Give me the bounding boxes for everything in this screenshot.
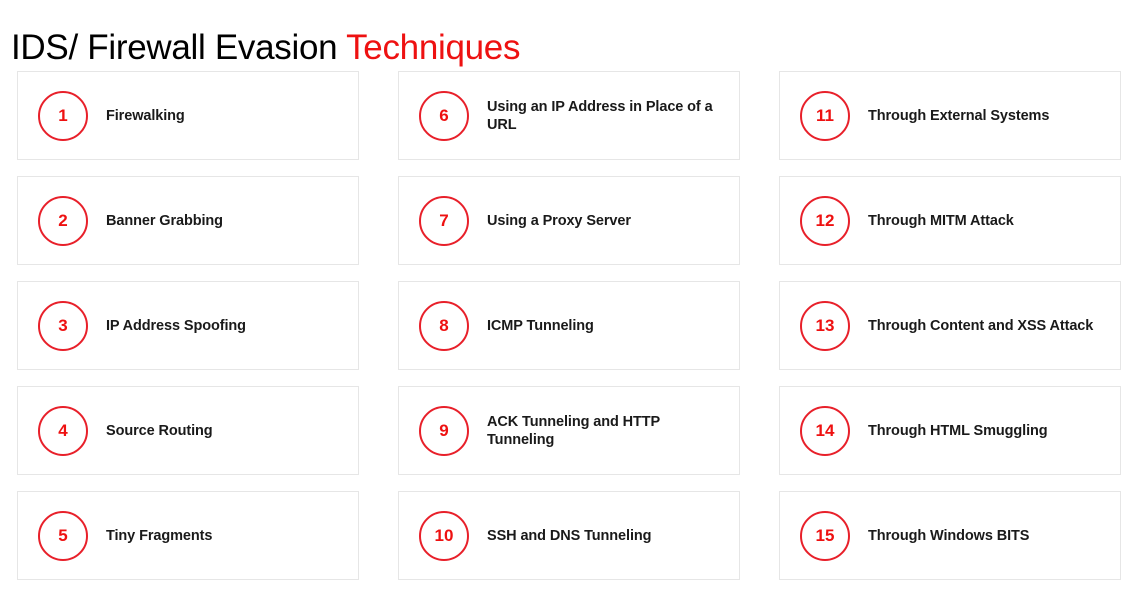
technique-number-badge: 7 bbox=[419, 196, 469, 246]
technique-card[interactable]: 11 Through External Systems bbox=[779, 71, 1121, 160]
technique-label: Using an IP Address in Place of a URL bbox=[487, 98, 729, 134]
technique-number-badge: 6 bbox=[419, 91, 469, 141]
technique-card[interactable]: 12 Through MITM Attack bbox=[779, 176, 1121, 265]
technique-card[interactable]: 10 SSH and DNS Tunneling bbox=[398, 491, 740, 580]
technique-number-badge: 5 bbox=[38, 511, 88, 561]
technique-number-badge: 12 bbox=[800, 196, 850, 246]
technique-number-badge: 1 bbox=[38, 91, 88, 141]
technique-number-badge: 2 bbox=[38, 196, 88, 246]
technique-number-badge: 11 bbox=[800, 91, 850, 141]
technique-label: Through HTML Smuggling bbox=[868, 422, 1048, 440]
technique-number-badge: 15 bbox=[800, 511, 850, 561]
evasion-techniques-page: IDS/ Firewall Evasion Techniques 1 Firew… bbox=[0, 0, 1137, 603]
technique-label: Through Windows BITS bbox=[868, 527, 1029, 545]
technique-card[interactable]: 7 Using a Proxy Server bbox=[398, 176, 740, 265]
page-title-accent: Techniques bbox=[346, 28, 520, 67]
technique-card[interactable]: 8 ICMP Tunneling bbox=[398, 281, 740, 370]
technique-number-badge: 13 bbox=[800, 301, 850, 351]
techniques-grid: 1 Firewalking 6 Using an IP Address in P… bbox=[17, 71, 1121, 580]
technique-card[interactable]: 9 ACK Tunneling and HTTP Tunneling bbox=[398, 386, 740, 475]
technique-label: Through External Systems bbox=[868, 107, 1049, 125]
technique-card[interactable]: 4 Source Routing bbox=[17, 386, 359, 475]
technique-number-badge: 9 bbox=[419, 406, 469, 456]
technique-card[interactable]: 3 IP Address Spoofing bbox=[17, 281, 359, 370]
technique-number-badge: 10 bbox=[419, 511, 469, 561]
technique-label: IP Address Spoofing bbox=[106, 317, 246, 335]
technique-label: ACK Tunneling and HTTP Tunneling bbox=[487, 413, 729, 449]
technique-card[interactable]: 13 Through Content and XSS Attack bbox=[779, 281, 1121, 370]
technique-label: Tiny Fragments bbox=[106, 527, 212, 545]
page-title: IDS/ Firewall Evasion Techniques bbox=[11, 25, 520, 71]
technique-number-badge: 4 bbox=[38, 406, 88, 456]
technique-number-badge: 3 bbox=[38, 301, 88, 351]
technique-label: SSH and DNS Tunneling bbox=[487, 527, 651, 545]
technique-label: Through Content and XSS Attack bbox=[868, 317, 1093, 335]
technique-card[interactable]: 5 Tiny Fragments bbox=[17, 491, 359, 580]
technique-card[interactable]: 6 Using an IP Address in Place of a URL bbox=[398, 71, 740, 160]
technique-label: Banner Grabbing bbox=[106, 212, 223, 230]
technique-number-badge: 8 bbox=[419, 301, 469, 351]
technique-card[interactable]: 1 Firewalking bbox=[17, 71, 359, 160]
technique-label: Through MITM Attack bbox=[868, 212, 1014, 230]
technique-label: Firewalking bbox=[106, 107, 185, 125]
page-title-main: IDS/ Firewall Evasion bbox=[11, 28, 346, 67]
technique-card[interactable]: 14 Through HTML Smuggling bbox=[779, 386, 1121, 475]
technique-card[interactable]: 2 Banner Grabbing bbox=[17, 176, 359, 265]
technique-number-badge: 14 bbox=[800, 406, 850, 456]
technique-label: Using a Proxy Server bbox=[487, 212, 631, 230]
technique-card[interactable]: 15 Through Windows BITS bbox=[779, 491, 1121, 580]
technique-label: ICMP Tunneling bbox=[487, 317, 594, 335]
technique-label: Source Routing bbox=[106, 422, 213, 440]
